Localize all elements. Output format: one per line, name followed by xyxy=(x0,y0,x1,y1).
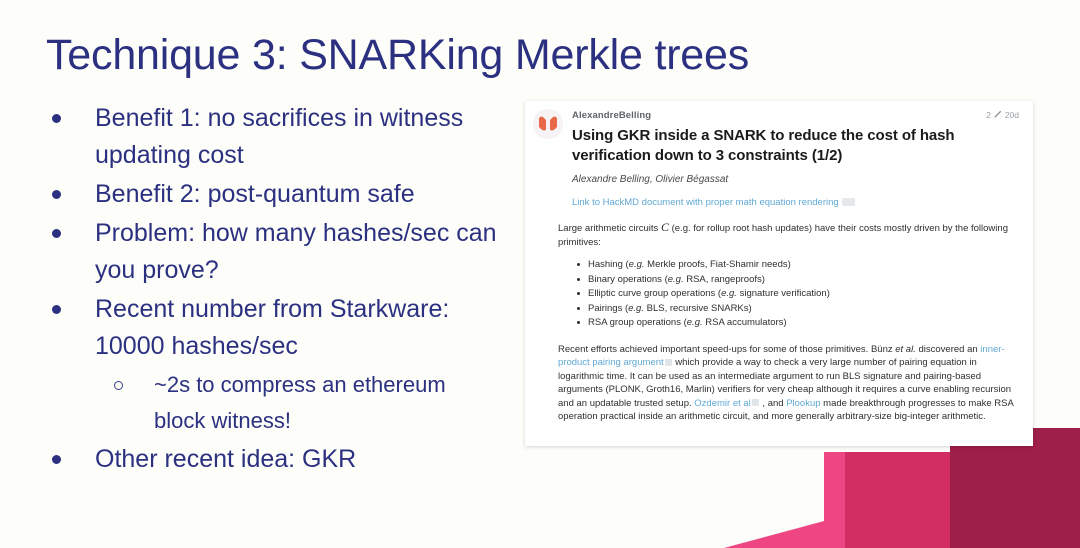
closing-paragraph: Recent efforts achieved important speed-… xyxy=(558,343,1019,424)
list-item-label: Benefit 2: post-quantum safe xyxy=(61,176,415,213)
list-item: Benefit 1: no sacrifices in witness upda… xyxy=(52,100,522,174)
primitive-em: e.g. xyxy=(721,288,737,299)
list-item: Recent number from Starkware: 10000 hash… xyxy=(52,291,522,365)
list-item: Pairings (e.g. BLS, recursive SNARKs) xyxy=(588,302,1019,316)
card-meta-stats: 2 20d xyxy=(986,110,1019,120)
edit-count: 2 xyxy=(986,110,991,120)
hackmd-avatar-icon xyxy=(533,109,563,139)
list-item-label: Benefit 1: no sacrifices in witness upda… xyxy=(61,100,505,174)
list-item-label: ~2s to compress an ethereum block witnes… xyxy=(123,367,484,439)
primitives-list: Hashing (e.g. Merkle proofs, Fiat-Shamir… xyxy=(558,258,1019,330)
link-badge-icon xyxy=(752,399,759,406)
primitive-em: e.g. xyxy=(668,274,684,285)
primitive-post: BLS, recursive SNARKs) xyxy=(644,303,752,314)
pencil-icon xyxy=(994,110,1002,120)
hackmd-link-label: Link to HackMD document with proper math… xyxy=(572,197,839,208)
bullet-dot-icon xyxy=(52,229,61,238)
link-badge-icon xyxy=(665,359,672,366)
card-header: AlexandreBelling 2 20d Using GKR inside … xyxy=(525,101,1033,208)
document-title[interactable]: Using GKR inside a SNARK to reduce the c… xyxy=(539,126,1019,166)
closing-etal: et al. xyxy=(893,344,916,355)
bullet-list: Benefit 1: no sacrifices in witness upda… xyxy=(52,100,522,480)
primitive-pre: Binary operations ( xyxy=(588,274,668,285)
list-item: Hashing (e.g. Merkle proofs, Fiat-Shamir… xyxy=(588,258,1019,272)
deco-pink-triangle xyxy=(724,452,1080,548)
list-item: Problem: how many hashes/sec can you pro… xyxy=(52,215,522,289)
math-variable-c: C xyxy=(661,220,669,234)
document-authors: Alexandre Belling, Olivier Bégassat xyxy=(539,174,1019,185)
card-body: Large arithmetic circuits C (e.g. for ro… xyxy=(525,221,1033,424)
bullet-dot-icon xyxy=(52,455,61,464)
closing-bunz: Bünz xyxy=(871,344,893,355)
embedded-document-card[interactable]: AlexandreBelling 2 20d Using GKR inside … xyxy=(525,101,1033,446)
bullet-circle-icon xyxy=(114,381,123,390)
list-item-label: Other recent idea: GKR xyxy=(61,441,356,478)
primitive-post: Merkle proofs, Fiat-Shamir needs) xyxy=(645,259,791,270)
bullet-dot-icon xyxy=(52,114,61,123)
card-meta-row: AlexandreBelling 2 20d xyxy=(539,110,1019,121)
link-badge-icon xyxy=(842,198,855,206)
primitive-em: e.g. xyxy=(687,317,703,328)
list-item: RSA group operations (e.g. RSA accumulat… xyxy=(588,316,1019,330)
bullet-dot-icon xyxy=(52,305,61,314)
plookup-link[interactable]: Plookup xyxy=(786,398,820,409)
hackmd-document-link[interactable]: Link to HackMD document with proper math… xyxy=(539,197,1019,208)
document-age: 20d xyxy=(1005,110,1019,120)
closing-s4: , and xyxy=(760,398,786,409)
deco-pink-dark-rect xyxy=(845,452,963,548)
primitive-em: e.g. xyxy=(629,259,645,270)
list-item: Binary operations (e.g. RSA, rangeproofs… xyxy=(588,273,1019,287)
list-item: Benefit 2: post-quantum safe xyxy=(52,176,522,213)
list-item-label: Recent number from Starkware: 10000 hash… xyxy=(61,291,505,365)
primitive-post: RSA accumulators) xyxy=(703,317,787,328)
intro-paragraph: Large arithmetic circuits C (e.g. for ro… xyxy=(558,221,1019,249)
bullet-dot-icon xyxy=(52,190,61,199)
deco-maroon-block xyxy=(950,428,1080,548)
page-title: Technique 3: SNARKing Merkle trees xyxy=(46,26,749,84)
list-item: Other recent idea: GKR xyxy=(52,441,522,478)
primitive-pre: Hashing ( xyxy=(588,259,629,270)
closing-s2: discovered an xyxy=(916,344,980,355)
card-username[interactable]: AlexandreBelling xyxy=(572,110,651,121)
primitive-post: RSA, rangeproofs) xyxy=(684,274,765,285)
intro-text-before: Large arithmetic circuits xyxy=(558,223,661,234)
primitive-pre: Pairings ( xyxy=(588,303,628,314)
deco-pink-block xyxy=(824,452,1080,548)
list-item-nested: ~2s to compress an ethereum block witnes… xyxy=(52,367,522,439)
list-item: Elliptic curve group operations (e.g. si… xyxy=(588,287,1019,301)
primitive-pre: Elliptic curve group operations ( xyxy=(588,288,721,299)
primitive-post: signature verification) xyxy=(737,288,830,299)
closing-s1: Recent efforts achieved important speed-… xyxy=(558,344,871,355)
primitive-pre: RSA group operations ( xyxy=(588,317,687,328)
list-item-label: Problem: how many hashes/sec can you pro… xyxy=(61,215,505,289)
ozdemir-link[interactable]: Ozdemir et al xyxy=(694,398,751,409)
primitive-em: e.g. xyxy=(628,303,644,314)
